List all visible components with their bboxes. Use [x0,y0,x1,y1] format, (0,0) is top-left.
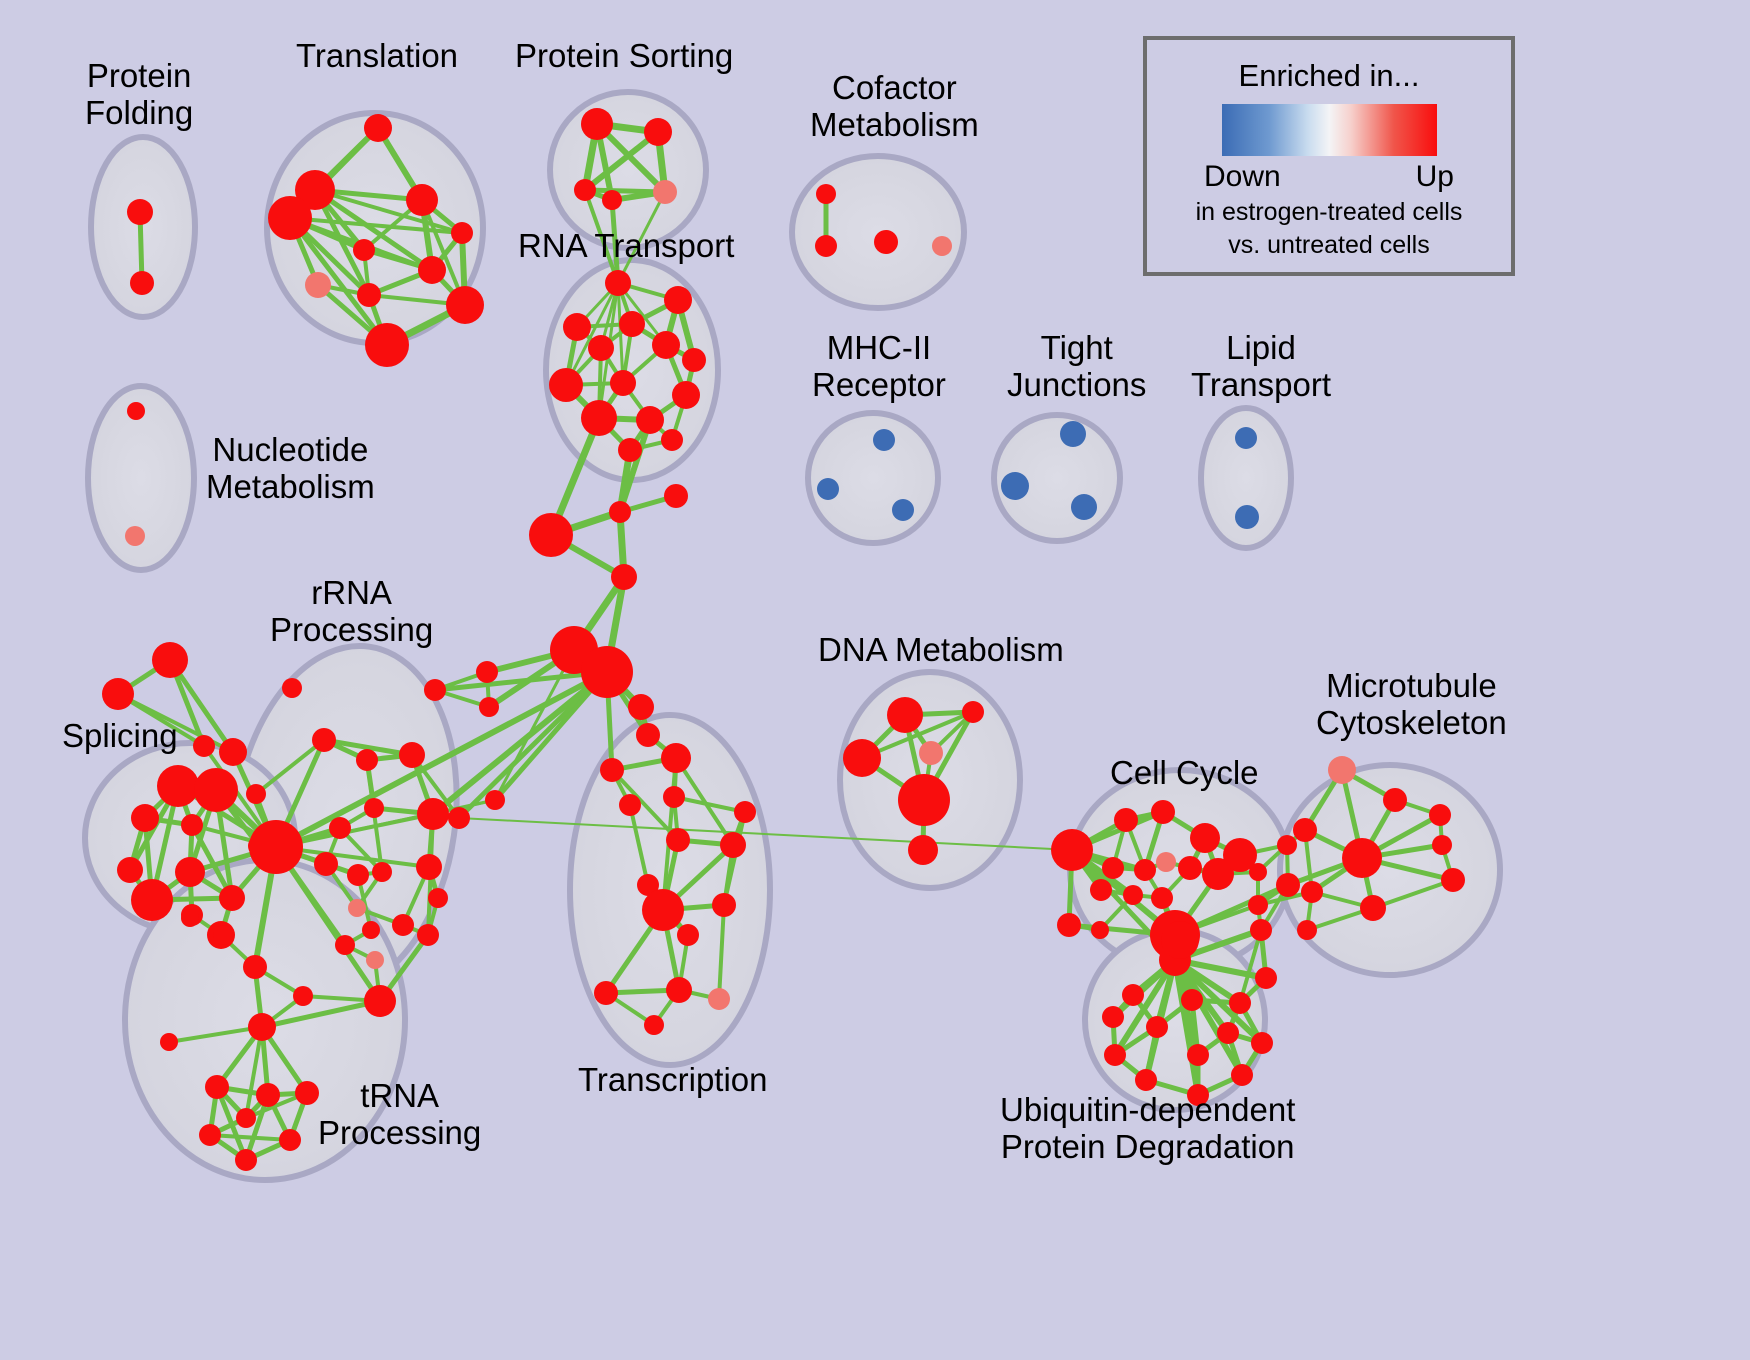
network-node[interactable] [1441,868,1465,892]
network-node[interactable] [1151,887,1173,909]
network-node[interactable] [1135,1069,1157,1091]
network-node[interactable] [1342,838,1382,878]
network-node[interactable] [581,400,617,436]
network-node[interactable] [1360,895,1386,921]
network-node[interactable] [672,381,700,409]
network-node[interactable] [243,955,267,979]
network-node[interactable] [372,862,392,882]
network-node[interactable] [720,832,746,858]
network-node[interactable] [329,817,351,839]
network-node[interactable] [1123,885,1143,905]
network-node[interactable] [1156,852,1176,872]
network-node[interactable] [219,885,245,911]
legend-high-label: Up [1416,160,1454,194]
network-node[interactable] [682,348,706,372]
network-node[interactable] [874,230,898,254]
network-node[interactable] [364,798,384,818]
network-node[interactable] [479,697,499,717]
network-node[interactable] [157,765,199,807]
network-node[interactable] [219,738,247,766]
network-node[interactable] [152,642,188,678]
network-node[interactable] [1293,818,1317,842]
network-node[interactable] [1187,1084,1209,1106]
network-node[interactable] [609,501,631,523]
network-node[interactable] [708,988,730,1010]
network-node[interactable] [581,646,633,698]
network-node[interactable] [160,1033,178,1051]
network-node[interactable] [348,899,366,917]
network-node[interactable] [428,888,448,908]
network-node[interactable] [664,286,692,314]
network-node[interactable] [618,438,642,462]
network-node[interactable] [366,951,384,969]
network-node[interactable] [1001,472,1029,500]
network-node[interactable] [353,239,375,261]
network-node[interactable] [399,742,425,768]
network-node[interactable] [563,313,591,341]
network-node[interactable] [451,222,473,244]
network-node[interactable] [1202,858,1234,890]
network-node[interactable] [653,180,677,204]
network-node[interactable] [1060,421,1086,447]
network-node[interactable] [628,694,654,720]
network-node[interactable] [1091,921,1109,939]
network-node[interactable] [347,864,369,886]
network-node[interactable] [295,1081,319,1105]
network-node[interactable] [1297,920,1317,940]
network-node[interactable] [666,828,690,852]
network-node[interactable] [664,484,688,508]
network-node[interactable] [1122,984,1144,1006]
network-node[interactable] [1235,427,1257,449]
network-node[interactable] [1231,1064,1253,1086]
network-node[interactable] [406,184,438,216]
cluster-hull-mhc-ii-receptor [808,413,938,543]
network-node[interactable] [887,697,923,733]
network-node[interactable] [1057,913,1081,937]
network-node[interactable] [125,526,145,546]
network-node[interactable] [1328,756,1356,784]
network-node[interactable] [605,270,631,296]
network-node[interactable] [248,1013,276,1041]
legend-title: Enriched in... [1147,58,1511,94]
network-node[interactable] [661,429,683,451]
network-node[interactable] [365,323,409,367]
legend-colorbar [1222,104,1437,156]
network-node[interactable] [424,679,446,701]
network-node[interactable] [364,985,396,1017]
network-node[interactable] [644,1015,664,1035]
network-node[interactable] [127,199,153,225]
network-node[interactable] [392,914,414,936]
cluster-hull-protein-sorting [550,92,706,248]
network-node[interactable] [305,272,331,298]
network-node[interactable] [661,743,691,773]
network-node[interactable] [677,924,699,946]
network-node[interactable] [594,981,618,1005]
enrichment-map-figure: Protein FoldingTranslationProtein Sortin… [0,0,1750,1360]
network-node[interactable] [1432,835,1452,855]
network-node[interactable] [356,749,378,771]
network-node[interactable] [1114,808,1138,832]
legend-box: Enriched in... Down Up in estrogen-treat… [1143,36,1515,276]
network-node[interactable] [600,758,624,782]
network-node[interactable] [246,784,266,804]
network-node[interactable] [256,1083,280,1107]
network-node[interactable] [181,909,199,927]
network-node[interactable] [335,935,355,955]
network-node[interactable] [416,854,442,880]
network-node[interactable] [588,335,614,361]
network-node[interactable] [644,118,672,146]
network-node[interactable] [476,661,498,683]
network-node[interactable] [636,406,664,434]
network-node[interactable] [610,370,636,396]
network-node[interactable] [279,1129,301,1151]
network-node[interactable] [312,728,336,752]
network-node[interactable] [932,236,952,256]
network-node[interactable] [193,735,215,757]
network-node[interactable] [1178,856,1202,880]
network-node[interactable] [1187,1044,1209,1066]
network-node[interactable] [817,478,839,500]
network-node[interactable] [1151,800,1175,824]
network-node[interactable] [1429,804,1451,826]
network-node[interactable] [892,499,914,521]
network-node[interactable] [619,311,645,337]
network-node[interactable] [636,723,660,747]
network-node[interactable] [898,774,950,826]
network-node[interactable] [581,108,613,140]
network-node[interactable] [816,184,836,204]
network-node[interactable] [314,852,338,876]
network-node[interactable] [362,921,380,939]
network-node[interactable] [611,564,637,590]
network-node[interactable] [1276,873,1300,897]
network-node[interactable] [1250,919,1272,941]
network-node[interactable] [1383,788,1407,812]
network-node[interactable] [1134,859,1156,881]
network-node[interactable] [236,1108,256,1128]
network-node[interactable] [642,889,684,931]
network-node[interactable] [205,1075,229,1099]
network-node[interactable] [1104,1044,1126,1066]
network-node[interactable] [602,190,622,210]
network-node[interactable] [962,701,984,723]
network-node[interactable] [293,986,313,1006]
network-node[interactable] [1146,1016,1168,1038]
network-node[interactable] [194,768,238,812]
network-node[interactable] [446,286,484,324]
network-node[interactable] [919,741,943,765]
network-node[interactable] [1102,1006,1124,1028]
network-node[interactable] [1255,967,1277,989]
legend-subtitle-line2: vs. untreated cells [1147,231,1511,260]
network-node[interactable] [734,801,756,823]
network-node[interactable] [1051,829,1093,871]
network-node[interactable] [1277,835,1297,855]
network-node[interactable] [1102,857,1124,879]
network-node[interactable] [712,893,736,917]
network-node[interactable] [843,739,881,777]
network-node[interactable] [663,786,685,808]
network-node[interactable] [199,1124,221,1146]
network-node[interactable] [235,1149,257,1171]
network-node[interactable] [652,331,680,359]
network-node[interactable] [574,179,596,201]
network-node[interactable] [815,235,837,257]
cluster-hull-cofactor-metabolism [792,156,964,308]
network-node[interactable] [485,790,505,810]
network-node[interactable] [448,807,470,829]
network-node[interactable] [1229,992,1251,1014]
network-node[interactable] [1249,863,1267,881]
network-node[interactable] [908,835,938,865]
network-node[interactable] [131,879,173,921]
network-edge [585,190,665,192]
network-node[interactable] [357,283,381,307]
network-node[interactable] [127,402,145,420]
network-node[interactable] [1181,989,1203,1011]
network-node[interactable] [1301,881,1323,903]
network-node[interactable] [102,678,134,710]
network-node[interactable] [1248,895,1268,915]
network-node[interactable] [1071,494,1097,520]
network-node[interactable] [131,804,159,832]
network-node[interactable] [549,368,583,402]
network-node[interactable] [666,977,692,1003]
network-node[interactable] [181,814,203,836]
network-node[interactable] [873,429,895,451]
network-node[interactable] [1090,879,1112,901]
network-node[interactable] [1217,1022,1239,1044]
network-node[interactable] [1190,823,1220,853]
network-node[interactable] [117,857,143,883]
network-edge [433,672,607,814]
network-node[interactable] [1161,921,1199,959]
network-node[interactable] [364,114,392,142]
network-node[interactable] [417,924,439,946]
network-node[interactable] [1251,1032,1273,1054]
legend-low-label: Down [1204,160,1281,194]
network-node[interactable] [175,857,205,887]
network-node[interactable] [1235,505,1259,529]
network-node[interactable] [213,925,233,945]
network-node[interactable] [268,196,312,240]
network-node[interactable] [282,678,302,698]
network-node[interactable] [619,794,641,816]
network-node[interactable] [130,271,154,295]
network-node[interactable] [249,820,303,874]
network-node[interactable] [529,513,573,557]
legend-subtitle-line1: in estrogen-treated cells [1147,198,1511,227]
network-node[interactable] [418,256,446,284]
network-node[interactable] [417,798,449,830]
